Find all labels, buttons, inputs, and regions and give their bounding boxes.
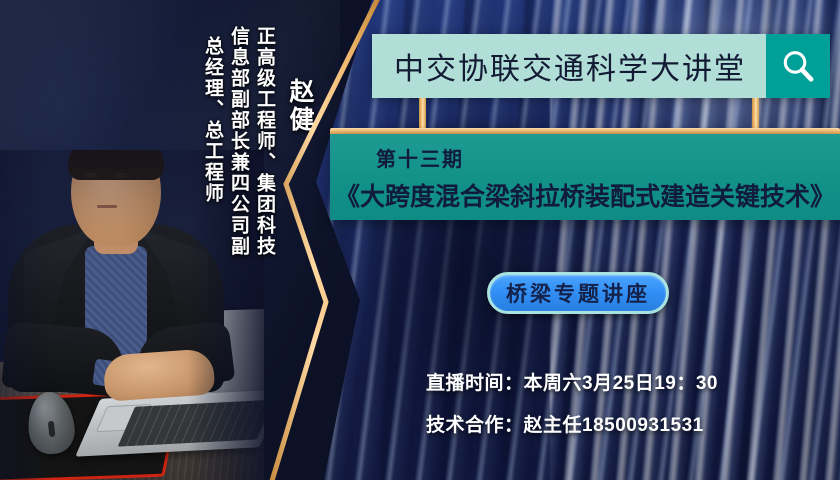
credential-line-3: 总经理、总工程师 [203,36,222,204]
broadcast-time-text: 直播时间：本周六3月25日19：30 [426,368,718,395]
title-text: 中交协联交通科学大讲堂 [372,34,766,98]
speaker-name: 赵健 [282,78,318,134]
issue-number: 第十三期 [376,143,840,172]
session-subject: 《大跨度混合梁斜拉桥装配式建造关键技术》 [330,177,840,213]
credential-line-2: 信息部副部长兼四公司副 [229,26,248,257]
search-button[interactable] [766,34,830,98]
poster-canvas: 正高级工程师、集团科技 信息部副部长兼四公司副 总经理、总工程师 赵健 中交协联… [0,0,840,480]
title-banner: 中交协联交通科学大讲堂 [372,34,830,98]
session-banner: 第十三期 《大跨度混合梁斜拉桥装配式建造关键技术》 [330,134,840,220]
cooperation-contact-text: 技术合作：赵主任18500931531 [426,410,704,437]
credential-line-1: 正高级工程师、集团科技 [255,26,274,257]
gold-post-right [752,98,759,132]
speaker-panel: 正高级工程师、集团科技 信息部副部长兼四公司副 总经理、总工程师 赵健 [0,0,340,480]
gold-post-left [419,98,426,132]
speaker-photo [0,150,264,480]
photo-vignette [0,150,264,480]
search-icon [779,47,817,85]
topic-badge[interactable]: 桥梁专题讲座 [487,272,669,314]
